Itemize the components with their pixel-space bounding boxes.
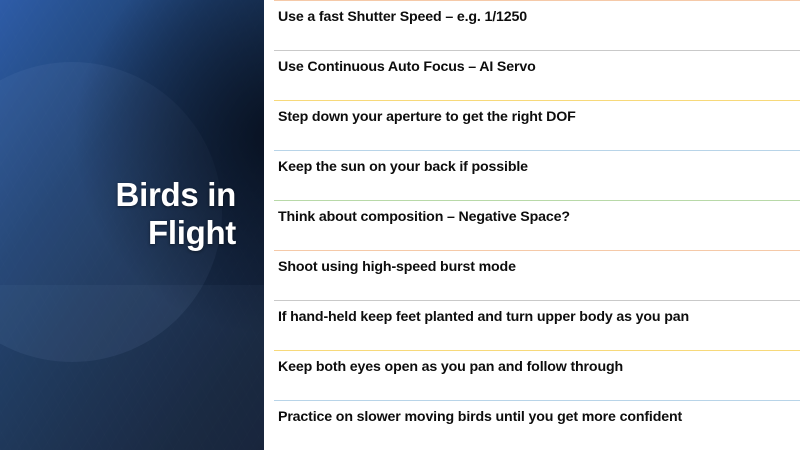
list-item-label: If hand-held keep feet planted and turn … [274,301,689,325]
list-item[interactable]: Use Continuous Auto Focus – AI Servo [274,50,800,100]
decorative-horizontal-band [0,285,264,450]
slide: Birds in Flight Use a fast Shutter Speed… [0,0,800,450]
list-item-label: Keep both eyes open as you pan and follo… [274,351,623,375]
title-panel: Birds in Flight [0,0,264,450]
list-item-label: Use Continuous Auto Focus – AI Servo [274,51,536,75]
list-item[interactable]: If hand-held keep feet planted and turn … [274,300,800,350]
list-item-label: Use a fast Shutter Speed – e.g. 1/1250 [274,1,527,25]
list-item-label: Shoot using high-speed burst mode [274,251,516,275]
list-item-label: Keep the sun on your back if possible [274,151,528,175]
list-item[interactable]: Keep the sun on your back if possible [274,150,800,200]
list-item[interactable]: Shoot using high-speed burst mode [274,250,800,300]
list-item[interactable]: Use a fast Shutter Speed – e.g. 1/1250 [274,0,800,50]
list-item-label: Practice on slower moving birds until yo… [274,401,682,425]
tips-list: Use a fast Shutter Speed – e.g. 1/1250Us… [264,0,800,450]
list-item-label: Step down your aperture to get the right… [274,101,576,125]
list-item[interactable]: Think about composition – Negative Space… [274,200,800,250]
slide-title: Birds in Flight [16,176,236,253]
list-item[interactable]: Keep both eyes open as you pan and follo… [274,350,800,400]
list-item[interactable]: Step down your aperture to get the right… [274,100,800,150]
list-item-label: Think about composition – Negative Space… [274,201,570,225]
list-item[interactable]: Practice on slower moving birds until yo… [274,400,800,450]
